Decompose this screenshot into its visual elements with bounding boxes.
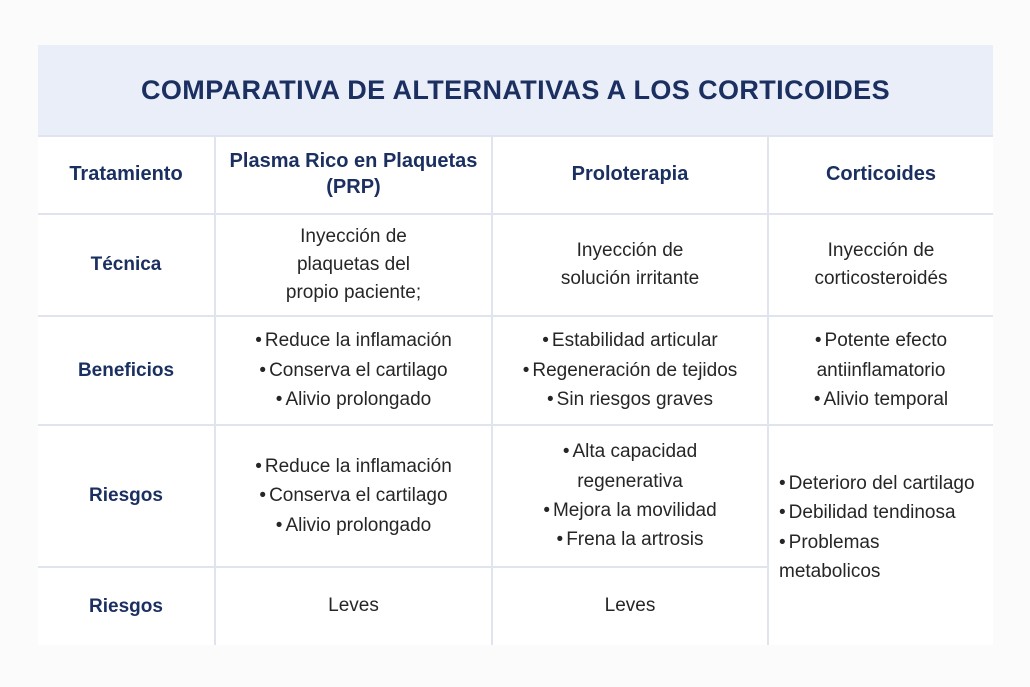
list-item-label: Frena la artrosis <box>566 529 703 550</box>
list-item-label: Conserva el cartilago <box>269 360 447 381</box>
bullet-dot-icon: • <box>779 532 786 553</box>
list-item-label: Alta capacidad regenerativa <box>573 441 698 491</box>
list-item: •Conserva el cartilago <box>255 481 452 510</box>
table-cell-beneficios-corticoides: •Potente efecto antiinflamatorio •Alivio… <box>769 317 993 424</box>
cell-line: solución irritante <box>561 268 699 289</box>
bullet-dot-icon: • <box>563 441 570 462</box>
table-cell-leves-proloterapia: Leves <box>493 568 767 645</box>
table-cell-riesgos-proloterapia: •Alta capacidad regenerativa •Mejora la … <box>493 426 767 566</box>
list-item-label: Sin riesgos graves <box>557 389 713 410</box>
bullet-dot-icon: • <box>815 330 822 351</box>
column-header-label: Plasma Rico en Plaquetas (PRP) <box>226 148 481 200</box>
bullet-dot-icon: • <box>259 360 266 381</box>
column-header-proloterapia: Proloterapia <box>493 135 767 213</box>
list-item-label: Alivio temporal <box>824 389 949 410</box>
list-item-label: Mejora la movilidad <box>553 500 717 521</box>
bullet-dot-icon: • <box>276 515 283 536</box>
cell-text: Leves <box>328 592 379 620</box>
cell-line: Inyección de <box>300 226 407 247</box>
cell-line: corticosteroidés <box>814 268 947 289</box>
list-item-label: Alivio prolongado <box>285 515 431 536</box>
bullet-list: •Reduce la inflamación •Conserva el cart… <box>255 326 452 414</box>
cell-line: propio paciente; <box>286 282 421 303</box>
list-item: •Potente efecto antiinflamatorio <box>779 326 983 385</box>
title-band: COMPARATIVA DE ALTERNATIVAS A LOS CORTIC… <box>38 45 993 135</box>
list-item-label: Conserva el cartilago <box>269 485 447 506</box>
cell-text: Leves <box>605 592 656 620</box>
bullet-list: •Reduce la inflamación •Conserva el cart… <box>255 452 452 540</box>
column-header-prp: Plasma Rico en Plaquetas (PRP) <box>216 135 491 213</box>
page-title: COMPARATIVA DE ALTERNATIVAS A LOS CORTIC… <box>141 75 890 106</box>
list-item-label: Estabilidad articular <box>552 330 718 351</box>
list-item-label: Regeneración de tejidos <box>532 360 737 381</box>
cell-text: Inyección de corticosteroidés <box>814 237 947 293</box>
list-item-label: Alivio prolongado <box>285 389 431 410</box>
bullet-dot-icon: • <box>779 473 786 494</box>
bullet-list: •Estabilidad articular •Regeneración de … <box>523 326 738 414</box>
row-header-label: Técnica <box>91 253 162 277</box>
list-item: •Alivio temporal <box>779 385 983 414</box>
page-root: COMPARATIVA DE ALTERNATIVAS A LOS CORTIC… <box>0 0 1030 687</box>
row-header-label: Riesgos <box>89 595 163 619</box>
list-item: •Deterioro del cartilago <box>779 469 983 498</box>
table-cell-leves-corticoides <box>769 568 993 645</box>
table-cell-beneficios-prp: •Reduce la inflamación •Conserva el cart… <box>216 317 491 424</box>
list-item-label: Reduce la inflamación <box>265 456 452 477</box>
list-item-label: Debilidad tendinosa <box>789 502 956 523</box>
list-item: •Regeneración de tejidos <box>523 356 738 385</box>
list-item: •Sin riesgos graves <box>523 385 738 414</box>
table-cell-riesgos-prp: •Reduce la inflamación •Conserva el cart… <box>216 426 491 566</box>
cell-line: plaquetas del <box>297 254 410 275</box>
table-cell-beneficios-proloterapia: •Estabilidad articular •Regeneración de … <box>493 317 767 424</box>
column-header-tratamiento: Tratamiento <box>38 135 214 213</box>
list-item: •Estabilidad articular <box>523 326 738 355</box>
bullet-dot-icon: • <box>255 330 262 351</box>
cell-line: Inyección de <box>828 240 935 261</box>
comparison-table-card: COMPARATIVA DE ALTERNATIVAS A LOS CORTIC… <box>38 45 993 645</box>
list-item-label: Reduce la inflamación <box>265 330 452 351</box>
bullet-list: •Alta capacidad regenerativa •Mejora la … <box>523 437 738 555</box>
table-cell-tecnica-proloterapia: Inyección de solución irritante <box>493 215 767 315</box>
bullet-dot-icon: • <box>814 389 821 410</box>
row-header-beneficios: Beneficios <box>38 317 214 424</box>
bullet-dot-icon: • <box>523 360 530 381</box>
list-item-label: Potente efecto antiinflamatorio <box>817 330 948 380</box>
column-header-corticoides: Corticoides <box>769 135 993 213</box>
column-header-label: Proloterapia <box>572 161 689 187</box>
row-header-label: Riesgos <box>89 484 163 508</box>
list-item: •Mejora la movilidad <box>523 496 738 525</box>
cell-line: Inyección de <box>577 240 684 261</box>
row-header-tecnica: Técnica <box>38 215 214 315</box>
list-item: •Alivio prolongado <box>255 511 452 540</box>
list-item: •Conserva el cartilago <box>255 356 452 385</box>
table-cell-tecnica-prp: Inyección de plaquetas del propio pacien… <box>216 215 491 315</box>
list-item: •Frena la artrosis <box>523 525 738 554</box>
bullet-dot-icon: • <box>255 456 262 477</box>
bullet-dot-icon: • <box>779 502 786 523</box>
bullet-dot-icon: • <box>542 330 549 351</box>
bullet-dot-icon: • <box>276 389 283 410</box>
row-header-riesgos-1: Riesgos <box>38 426 214 566</box>
cell-text: Inyección de solución irritante <box>561 237 699 293</box>
table-cell-leves-prp: Leves <box>216 568 491 645</box>
column-header-label: Tratamiento <box>69 161 182 187</box>
list-item-label: Deterioro del cartilago <box>789 473 975 494</box>
list-item: •Alta capacidad regenerativa <box>523 437 738 496</box>
bullet-dot-icon: • <box>557 529 564 550</box>
bullet-dot-icon: • <box>543 500 550 521</box>
bullet-list: •Potente efecto antiinflamatorio •Alivio… <box>779 326 983 414</box>
cell-text: Inyección de plaquetas del propio pacien… <box>286 223 421 307</box>
row-header-label: Beneficios <box>78 359 174 383</box>
bullet-dot-icon: • <box>547 389 554 410</box>
column-header-label: Corticoides <box>826 161 936 187</box>
list-item: •Alivio prolongado <box>255 385 452 414</box>
list-item: •Reduce la inflamación <box>255 326 452 355</box>
list-item: •Reduce la inflamación <box>255 452 452 481</box>
table-cell-tecnica-corticoides: Inyección de corticosteroidés <box>769 215 993 315</box>
list-item: •Debilidad tendinosa <box>779 498 983 527</box>
row-header-riesgos-2: Riesgos <box>38 568 214 645</box>
bullet-dot-icon: • <box>259 485 266 506</box>
